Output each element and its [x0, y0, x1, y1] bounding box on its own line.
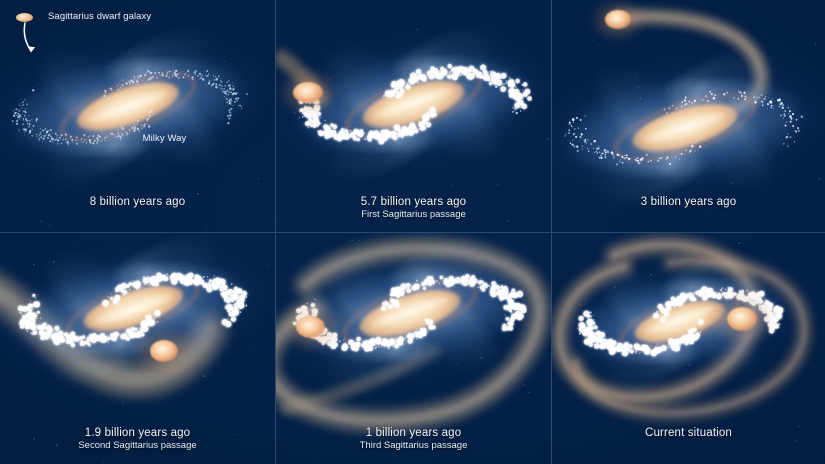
- caption-main: 1.9 billion years ago: [0, 427, 275, 440]
- panel-6: Current situation: [552, 233, 825, 464]
- curved-arrow-down-icon: [10, 20, 58, 58]
- caption-main: 8 billion years ago: [0, 196, 275, 209]
- caption-sub: Second Sagittarius passage: [0, 441, 275, 452]
- panel-4: 1.9 billion years ago Second Sagittarius…: [0, 233, 275, 464]
- panel-5: 1 billion years ago Third Sagittarius pa…: [276, 233, 551, 464]
- caption-main: 1 billion years ago: [276, 427, 551, 440]
- panel-1-caption: 8 billion years ago: [0, 196, 275, 209]
- panel-3-caption: 3 billion years ago: [552, 196, 825, 209]
- sagittarius-dwarf-galaxy-5: [296, 316, 325, 338]
- caption-main: Current situation: [552, 427, 825, 440]
- annotation-text: Milky Way: [143, 133, 187, 144]
- sagittarius-dwarf-galaxy-2: [293, 82, 323, 103]
- milky-way-galaxy-4: [10, 241, 256, 377]
- sagittarius-dwarf-annotation-label: Sagittarius dwarf galaxy: [48, 11, 151, 22]
- caption-sub: Third Sagittarius passage: [276, 441, 551, 452]
- milky-way-annotation-label: Milky Way: [0, 133, 275, 144]
- figure-canvas: Sagittarius dwarf galaxy Milky Way 8 bil…: [0, 0, 825, 464]
- panel-3: 3 billion years ago: [552, 0, 825, 232]
- panel-1: Sagittarius dwarf galaxy Milky Way 8 bil…: [0, 0, 275, 232]
- milky-way-galaxy-3: [556, 57, 814, 198]
- panel-2-caption: 5.7 billion years ago First Sagittarius …: [276, 196, 551, 221]
- panel-6-caption: Current situation: [552, 427, 825, 440]
- panel-4-caption: 1.9 billion years ago Second Sagittarius…: [0, 427, 275, 452]
- sagittarius-dwarf-galaxy-6: [727, 307, 757, 331]
- caption-main: 5.7 billion years ago: [276, 196, 551, 209]
- caption-sub: First Sagittarius passage: [276, 210, 551, 221]
- annotation-text: Sagittarius dwarf galaxy: [48, 11, 151, 22]
- sagittarius-dwarf-galaxy-3: [605, 10, 631, 29]
- panel-5-caption: 1 billion years ago Third Sagittarius pa…: [276, 427, 551, 452]
- sagittarius-dwarf-galaxy-4: [150, 340, 178, 362]
- caption-main: 3 billion years ago: [552, 196, 825, 209]
- panel-2: 5.7 billion years ago First Sagittarius …: [276, 0, 551, 232]
